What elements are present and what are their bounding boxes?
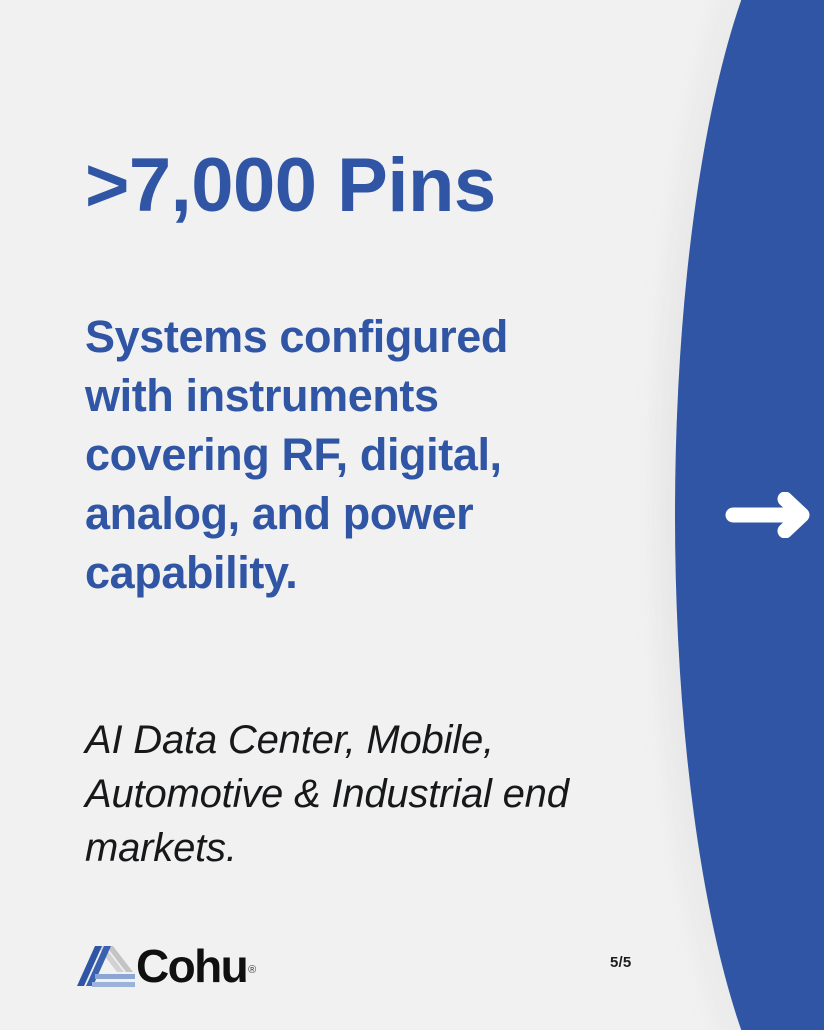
- slide-root: >7,000 Pins Systems configured with inst…: [0, 0, 824, 1030]
- subheading-text: Systems configured with instruments cove…: [85, 307, 605, 602]
- page-title: >7,000 Pins: [85, 148, 496, 224]
- arrow-right-icon: [724, 492, 824, 538]
- cohu-logo: Cohu®: [76, 936, 255, 988]
- end-markets-text: AI Data Center, Mobile, Automotive & Ind…: [85, 713, 645, 875]
- cohu-wordmark: Cohu®: [136, 944, 255, 988]
- next-slide-button[interactable]: [724, 492, 824, 538]
- content-column: >7,000 Pins Systems configured with inst…: [85, 0, 645, 1030]
- cohu-logo-mark: [76, 944, 138, 988]
- page-indicator: 5/5: [610, 954, 631, 971]
- registered-trademark-icon: ®: [248, 964, 256, 976]
- cohu-wordmark-text: Cohu: [136, 940, 247, 992]
